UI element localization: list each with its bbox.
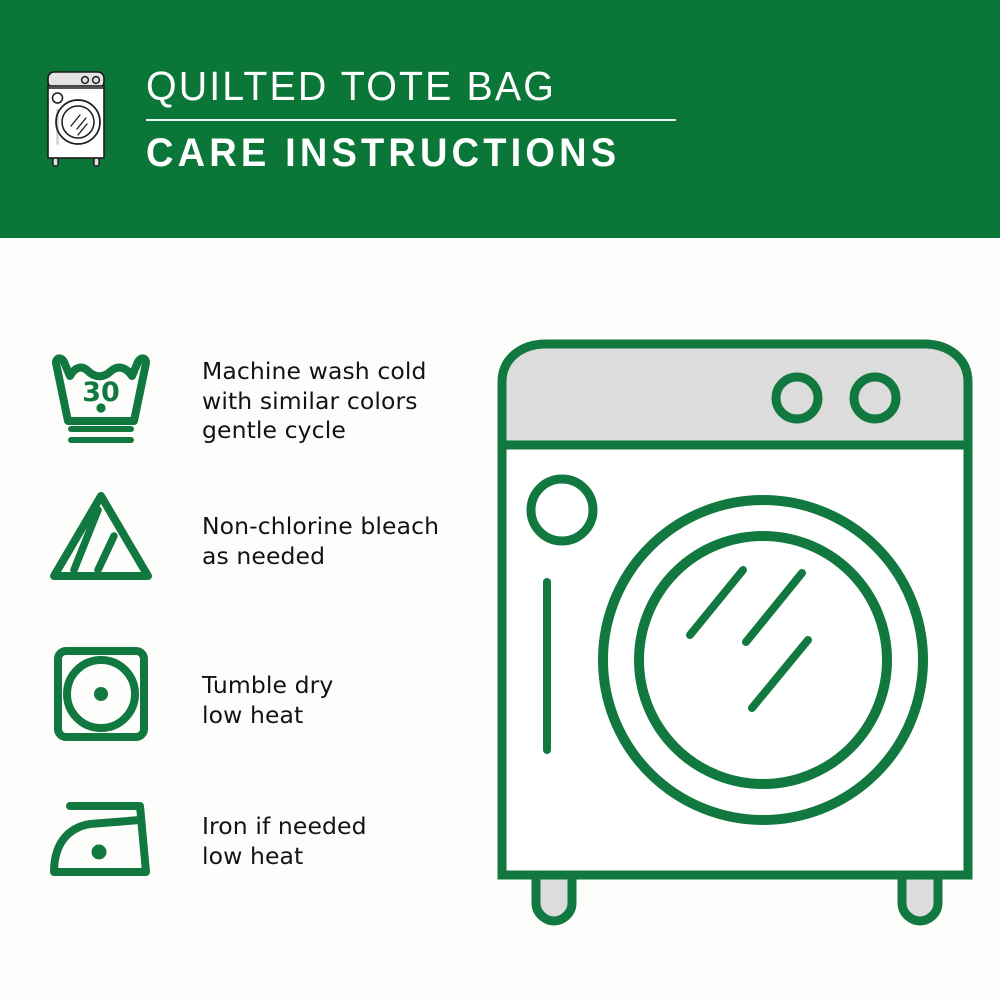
washing-machine-graphic	[490, 330, 980, 930]
title-divider	[146, 119, 676, 121]
leg-right	[902, 875, 938, 921]
care-item-tumble-dry: Tumble dry low heat	[48, 643, 468, 745]
header-content: QUILTED TOTE BAG CARE INSTRUCTIONS	[44, 62, 676, 176]
care-item-label: Iron if needed low heat	[202, 812, 367, 871]
care-item-bleach: Non-chlorine bleach as needed	[48, 486, 468, 588]
care-item-iron: Iron if needed low heat	[48, 790, 468, 882]
machine-body	[502, 445, 968, 875]
wash-tub-30-gentle-icon: 30	[48, 345, 158, 447]
triangle-non-chlorine-bleach-icon	[48, 486, 158, 588]
care-item-label: Tumble dry low heat	[202, 671, 333, 730]
header-titles: QUILTED TOTE BAG CARE INSTRUCTIONS	[146, 62, 676, 176]
leg-left	[536, 875, 572, 921]
tumble-dry-low-heat-icon	[48, 643, 158, 745]
care-item-label: Non-chlorine bleach as needed	[202, 512, 439, 571]
washing-machine-illustration	[490, 330, 980, 930]
care-item-label: Machine wash cold with similar colors ge…	[202, 357, 427, 446]
washing-machine-icon	[44, 66, 118, 170]
care-instructions-list: 30 Machine wash cold with similar colors…	[0, 238, 470, 1000]
wash-temperature-value: 30	[82, 377, 120, 408]
page-title: QUILTED TOTE BAG	[146, 62, 655, 110]
care-item-wash: 30 Machine wash cold with similar colors…	[48, 345, 468, 447]
iron-low-heat-icon	[48, 790, 158, 882]
header-banner: QUILTED TOTE BAG CARE INSTRUCTIONS	[0, 0, 1000, 238]
page-subtitle: CARE INSTRUCTIONS	[146, 130, 650, 176]
